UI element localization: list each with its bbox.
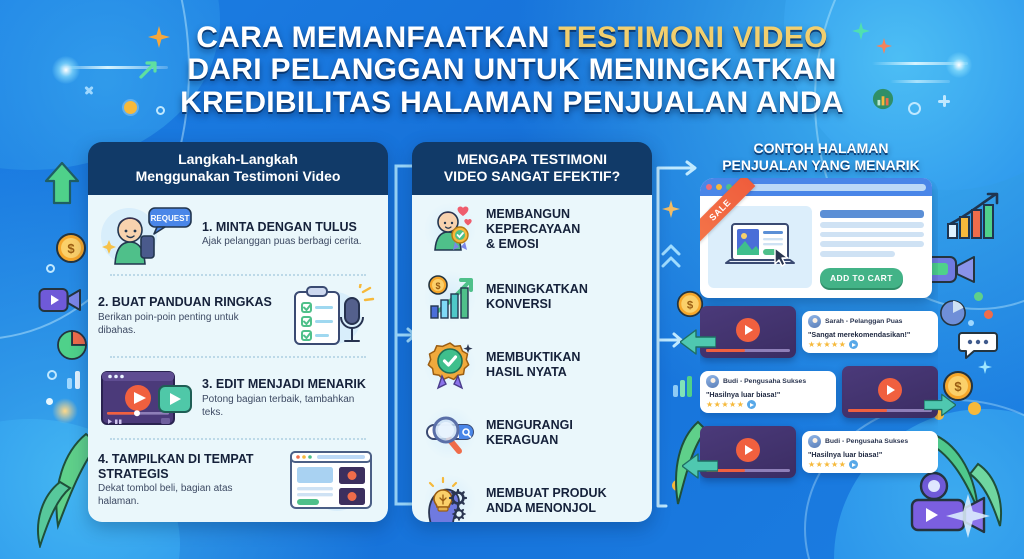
product-text-bar	[820, 241, 924, 247]
product-text-bar	[820, 232, 924, 238]
light-glow	[52, 398, 78, 424]
browser-url-bar[interactable]	[742, 184, 926, 191]
testimonial-header-2: Budi - Pengusaha Sukses	[706, 375, 830, 388]
step-text-3: 3. EDIT MENJADI MENARIK Potong bagian te…	[202, 377, 378, 419]
title-line-2: DARI PELANGGAN UNTUK MENINGKATKAN	[0, 54, 1024, 86]
title-line-3: KREDIBILITAS HALAMAN PENJUALAN ANDA	[0, 87, 1024, 119]
chat-bubble-icon	[958, 330, 998, 360]
pointer-arrow-icon	[682, 452, 718, 480]
testimonial-name-2: Budi - Pengusaha Sukses	[723, 378, 806, 385]
panel-reasons-header: MENGAPA TESTIMONI VIDEO SANGAT EFEKTIF?	[412, 142, 652, 195]
panel-example-header-line-2: PENJUALAN YANG MENARIK	[690, 157, 952, 174]
step-text-2: 2. BUAT PANDUAN RINGKAS Berikan poin-poi…	[98, 295, 274, 337]
testimonial-header-1: Sarah - Pelanggan Puas	[808, 315, 932, 328]
panel-reasons: MENGAPA TESTIMONI VIDEO SANGAT EFEKTIF?	[412, 142, 652, 522]
star-rating-2: ★★★★★	[706, 400, 744, 409]
panel-example: SALE	[700, 178, 938, 518]
reason-item-3[interactable]: MEMBUKTIKAN HASIL NYATA	[412, 331, 652, 399]
reason-item-1[interactable]: MEMBANGUN KEPERCAYAAN & EMOSI	[412, 195, 652, 263]
testimonial-bubble-2: Budi - Pengusaha Sukses "Hasilnya luar b…	[700, 371, 836, 413]
step-item-1[interactable]: REQUEST 1. MINTA DENGAN TULUS Ajak pelan…	[88, 195, 388, 273]
pointer-arrow-icon	[924, 392, 956, 418]
panel-steps-header-line-1: Langkah-Langkah	[96, 151, 380, 168]
ring-decoration	[46, 264, 55, 273]
testimonial-rating-2: ★★★★★	[706, 400, 830, 409]
growth-bar-chart-icon	[944, 188, 1006, 244]
step-title-1: 1. MINTA DENGAN TULUS	[202, 220, 378, 235]
product-text-bar	[820, 251, 895, 257]
browser-close-dot[interactable]	[706, 184, 712, 190]
testimonial-rating-3: ★★★★★	[808, 460, 932, 469]
video-progress-bar[interactable]	[706, 469, 790, 472]
pie-chart-icon	[940, 300, 966, 326]
person-with-phone-request-illustration: REQUEST	[98, 201, 194, 267]
play-button-icon[interactable]	[736, 318, 760, 342]
avatar	[706, 375, 719, 388]
reason-label-4: MENGURANGI KERAGUAN	[486, 418, 573, 448]
panel-example-header-line-1: CONTOH HALAMAN	[690, 140, 952, 157]
landing-page-mockup-illustration	[282, 447, 378, 513]
ring-decoration	[47, 370, 57, 380]
infographic-canvas: CARA MEMANFAATKAN TESTIMONI VIDEO DARI P…	[0, 0, 1024, 559]
video-progress-bar[interactable]	[706, 349, 790, 352]
testimonial-row-3[interactable]: Budi - Pengusaha Sukses "Hasilnya luar b…	[700, 426, 938, 478]
panel-example-header: CONTOH HALAMAN PENJUALAN YANG MENARIK	[690, 140, 952, 174]
step-title-3: 3. EDIT MENJADI MENARIK	[202, 377, 378, 392]
svg-text:REQUEST: REQUEST	[151, 214, 190, 223]
check-medal-icon	[424, 339, 476, 391]
step-item-4[interactable]: 4. TAMPILKAN DI TEMPAT STRATEGIS Dekat t…	[88, 441, 388, 519]
star-rating-1: ★★★★★	[808, 340, 846, 349]
reason-item-4[interactable]: MENGURANGI KERAGUAN	[412, 399, 652, 467]
step-title-4: 4. TAMPILKAN DI TEMPAT STRATEGIS	[98, 452, 274, 482]
testimonial-name-1: Sarah - Pelanggan Puas	[825, 318, 902, 325]
browser-minimize-dot[interactable]	[716, 184, 722, 190]
reason-label-5: MEMBUAT PRODUK ANDA MENONJOL	[486, 486, 607, 516]
product-copy: ADD TO CART	[820, 206, 924, 288]
step-item-3[interactable]: 3. EDIT MENJADI MENARIK Potong bagian te…	[88, 359, 388, 437]
testimonial-quote-1: "Sangat merekomendasikan!"	[808, 330, 932, 339]
step-divider	[110, 274, 366, 276]
star-rating-3: ★★★★★	[808, 460, 846, 469]
step-item-2[interactable]: 2. BUAT PANDUAN RINGKAS Berikan poin-poi…	[88, 277, 388, 355]
testimonial-row-1[interactable]: Sarah - Pelanggan Puas "Sangat merekomen…	[700, 306, 938, 358]
reason-label-2: MENINGKATKAN KONVERSI	[486, 282, 588, 312]
video-camera-icon	[38, 285, 82, 315]
step-desc-3: Potong bagian terbaik, tambahkan teks.	[202, 394, 378, 419]
dot-decoration	[974, 292, 983, 301]
dot-decoration	[46, 398, 53, 405]
panel-steps: Langkah-Langkah Menggunakan Testimoni Vi…	[88, 142, 388, 522]
product-headline-bar	[820, 210, 924, 218]
panel-reasons-body: MEMBANGUN KEPERCAYAAN & EMOSI $	[412, 195, 652, 522]
panel-steps-header: Langkah-Langkah Menggunakan Testimoni Vi…	[88, 142, 388, 195]
panel-reasons-header-line-1: MENGAPA TESTIMONI	[420, 151, 644, 168]
step-desc-4: Dekat tombol beli, bagian atas halaman.	[98, 483, 274, 508]
lightbulb-head-gears-icon	[424, 475, 476, 522]
left-decoration-group	[40, 160, 84, 211]
sparkle-icon	[946, 494, 990, 538]
play-button-icon[interactable]	[736, 438, 760, 462]
step-divider	[110, 438, 366, 440]
pointer-arrow-icon	[680, 328, 716, 356]
person-hearts-badge-icon	[424, 203, 476, 255]
svg-text:$: $	[67, 241, 75, 256]
testimonial-rating-1: ★★★★★	[808, 340, 932, 349]
testimonial-name-3: Budi - Pengusaha Sukses	[825, 438, 908, 445]
clipboard-checklist-microphone-illustration	[282, 283, 378, 349]
step-desc-1: Ajak pelanggan puas berbagi cerita.	[202, 236, 378, 249]
product-hero-image	[708, 206, 812, 288]
panel-reasons-header-line-2: VIDEO SANGAT EFEKTIF?	[420, 168, 644, 185]
reason-label-1: MEMBANGUN KEPERCAYAAN & EMOSI	[486, 207, 580, 252]
add-to-cart-button[interactable]: ADD TO CART	[820, 268, 903, 288]
page-title: CARA MEMANFAATKAN TESTIMONI VIDEO DARI P…	[0, 22, 1024, 119]
reason-item-5[interactable]: MEMBUAT PRODUK ANDA MENONJOL	[412, 467, 652, 522]
step-desc-2: Berikan poin-poin penting untuk dibahas.	[98, 312, 274, 337]
sales-page-browser-mockup: SALE	[700, 178, 932, 298]
testimonial-bubble-1: Sarah - Pelanggan Puas "Sangat merekomen…	[802, 311, 938, 353]
sparkle-icon	[978, 360, 992, 374]
growth-chart-coin-icon: $	[424, 271, 476, 323]
mini-play-icon[interactable]	[849, 340, 858, 349]
panel-steps-body: REQUEST 1. MINTA DENGAN TULUS Ajak pelan…	[88, 195, 388, 522]
testimonial-row-2[interactable]: Budi - Pengusaha Sukses "Hasilnya luar b…	[700, 366, 938, 418]
testimonial-quote-3: "Hasilnya luar biasa!"	[808, 450, 932, 459]
mini-play-icon[interactable]	[747, 400, 756, 409]
product-text-bar	[820, 222, 924, 228]
bar-chart-icon	[66, 368, 84, 390]
video-progress-bar[interactable]	[848, 409, 932, 412]
dot-decoration	[968, 402, 981, 415]
mini-play-icon[interactable]	[849, 460, 858, 469]
dot-decoration	[968, 320, 974, 326]
step-divider	[110, 356, 366, 358]
dot-decoration	[984, 310, 993, 319]
browser-content: SALE	[700, 196, 932, 298]
avatar	[808, 315, 821, 328]
laptop-icon	[724, 219, 796, 275]
up-arrow-icon	[40, 160, 84, 206]
testimonial-quote-2: "Hasilnya luar biasa!"	[706, 390, 830, 399]
reason-item-2[interactable]: $ MENINGKATKAN KONVERSI	[412, 263, 652, 331]
video-editor-illustration	[98, 365, 194, 431]
testimonial-header-3: Budi - Pengusaha Sukses	[808, 435, 932, 448]
reason-label-3: MEMBUKTIKAN HASIL NYATA	[486, 350, 580, 380]
step-title-2: 2. BUAT PANDUAN RINGKAS	[98, 295, 274, 310]
dollar-coin-icon: $	[55, 232, 87, 264]
play-button-icon[interactable]	[878, 378, 902, 402]
magnifier-search-icon	[424, 407, 476, 459]
panel-steps-header-line-2: Menggunakan Testimoni Video	[96, 168, 380, 185]
title-line-1: CARA MEMANFAATKAN TESTIMONI VIDEO	[0, 22, 1024, 54]
step-text-4: 4. TAMPILKAN DI TEMPAT STRATEGIS Dekat t…	[98, 452, 274, 509]
step-text-1: 1. MINTA DENGAN TULUS Ajak pelanggan pua…	[202, 220, 378, 249]
svg-text:$: $	[435, 281, 440, 291]
avatar	[808, 435, 821, 448]
pie-chart-icon	[57, 330, 87, 360]
testimonial-bubble-3: Budi - Pengusaha Sukses "Hasilnya luar b…	[802, 431, 938, 473]
